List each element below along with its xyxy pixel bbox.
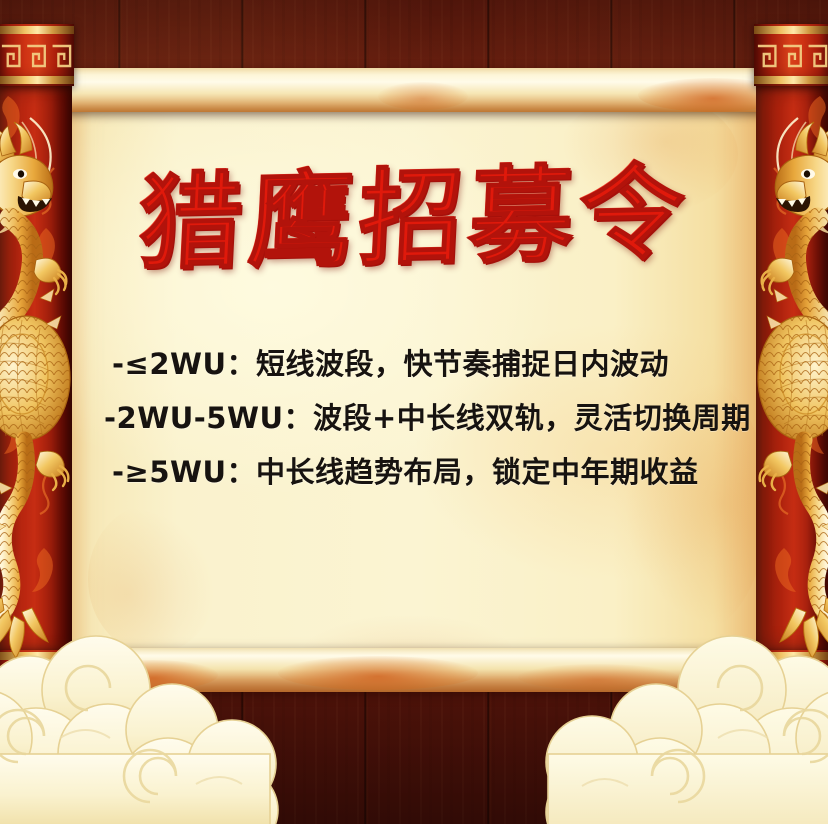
pillar-rim [754,26,828,34]
tier-line-1: -≤2WU：短线波段，快节奏捕捉日内波动 [72,350,762,379]
poster-content: 猎鹰招募令 -≤2WU：短线波段，快节奏捕捉日内波动 -2WU-5WU：波段+中… [58,74,770,684]
tier-line-3: -≥5WU：中长线趋势布局，锁定中年期收益 [72,458,762,487]
greek-key-pattern-icon [0,40,74,72]
gold-dragon-pillar-right [756,24,828,712]
pillar-rim [0,26,74,34]
greek-key-pattern-icon [0,666,74,698]
golden-dragon-icon [756,78,828,658]
tier-line-2: -2WU-5WU：波段+中长线双轨，灵活切换周期 [72,404,762,433]
tier-list: -≤2WU：短线波段，快节奏捕捉日内波动 -2WU-5WU：波段+中长线双轨，灵… [72,350,762,512]
pillar-cap-top [0,24,74,86]
pillar-rim [0,702,74,710]
poster-canvas: 猎鹰招募令 -≤2WU：短线波段，快节奏捕捉日内波动 -2WU-5WU：波段+中… [0,0,828,824]
pillar-cap-bottom [754,650,828,712]
pillar-rim [754,702,828,710]
pillar-cap-bottom [0,650,74,712]
pillar-cap-top [754,24,828,86]
greek-key-pattern-icon [754,666,828,698]
golden-dragon-icon [0,78,72,658]
page-title: 猎鹰招募令 [55,159,773,278]
greek-key-pattern-icon [754,40,828,72]
gold-dragon-pillar-left [0,24,72,712]
